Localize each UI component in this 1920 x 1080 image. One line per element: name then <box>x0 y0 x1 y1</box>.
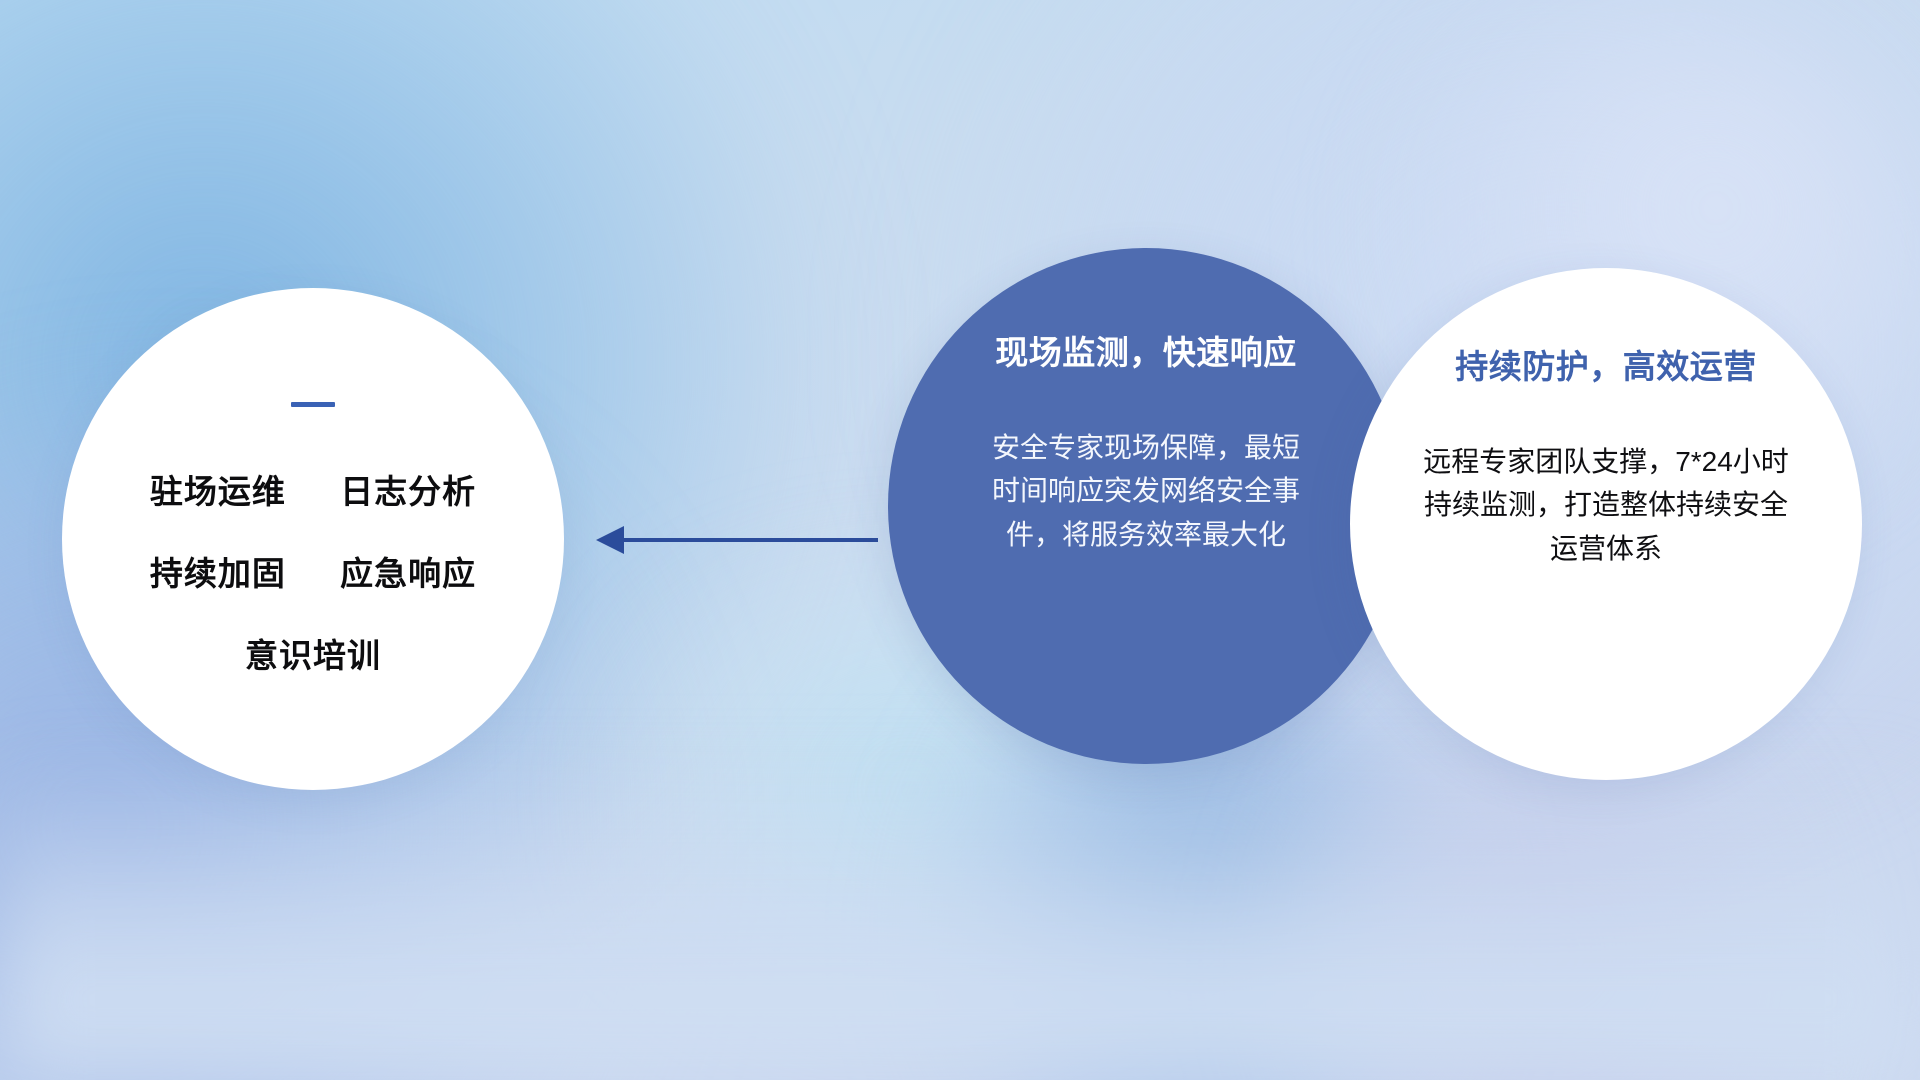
capability-label: 应急响应 <box>340 555 476 592</box>
capability-row: 持续加固 应急响应 <box>150 547 476 595</box>
accent-divider <box>291 402 335 407</box>
flow-arrow-icon <box>590 512 880 568</box>
capability-label: 持续加固 <box>150 555 286 592</box>
onsite-monitoring-circle[interactable]: 现场监测，快速响应 安全专家现场保障，最短时间响应突发网络安全事件，将服务效率最… <box>888 248 1404 764</box>
capability-label: 日志分析 <box>340 473 476 510</box>
capability-row: 驻场运维 日志分析 <box>150 465 476 513</box>
background-bottom-haze <box>0 760 1920 1080</box>
left-circle-content: 驻场运维 日志分析 持续加固 应急响应 意识培训 <box>62 288 564 790</box>
blue-circle-content: 现场监测，快速响应 安全专家现场保障，最短时间响应突发网络安全事件，将服务效率最… <box>888 248 1404 764</box>
capability-row: 意识培训 <box>245 629 381 677</box>
capability-label: 驻场运维 <box>150 473 286 510</box>
left-capabilities-circle[interactable]: 驻场运维 日志分析 持续加固 应急响应 意识培训 <box>62 288 564 790</box>
blue-circle-title: 现场监测，快速响应 <box>995 326 1297 374</box>
right-circle-title: 持续防护，高效运营 <box>1455 340 1757 388</box>
right-circle-body: 远程专家团队支撑，7*24小时持续监测，打造整体持续安全运营体系 <box>1411 440 1801 570</box>
blue-circle-body: 安全专家现场保障，最短时间响应突发网络安全事件，将服务效率最大化 <box>981 426 1311 556</box>
continuous-protection-circle[interactable]: 持续防护，高效运营 远程专家团队支撑，7*24小时持续监测，打造整体持续安全运营… <box>1350 268 1862 780</box>
capability-label: 意识培训 <box>245 637 381 674</box>
right-circle-content: 持续防护，高效运营 远程专家团队支撑，7*24小时持续监测，打造整体持续安全运营… <box>1350 268 1862 780</box>
